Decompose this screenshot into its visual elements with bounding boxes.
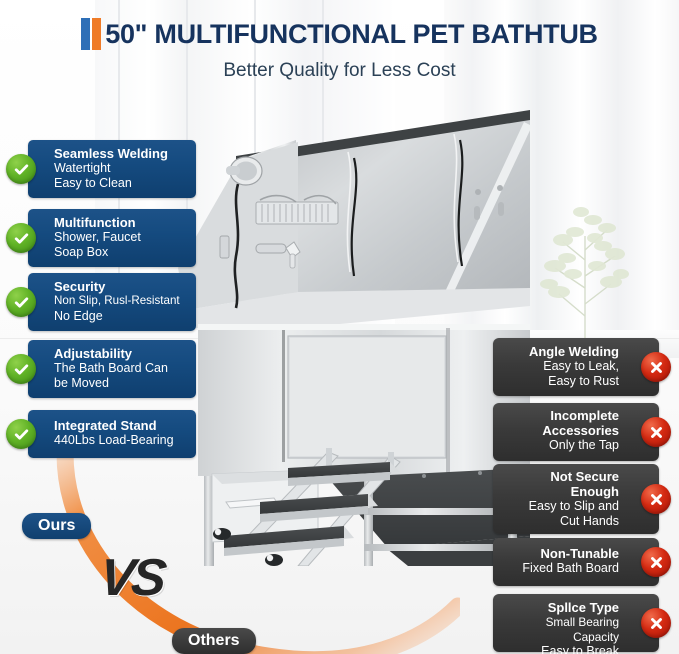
con-line: Easy to Rust (501, 374, 619, 389)
con-title: Non-Tunable (501, 546, 619, 561)
con-line: Small Bearing Capacity (501, 615, 619, 644)
con-item-non-tunable[interactable]: Non-Tunable Fixed Bath Board (493, 538, 659, 586)
pro-line: be Moved (54, 376, 188, 391)
ours-label: Ours (22, 513, 91, 539)
con-item-angle-welding[interactable]: Angle Welding Easy to Leak, Easy to Rust (493, 338, 659, 396)
con-line: Cut Hands (501, 514, 619, 529)
pro-line: Shower, Faucet (54, 230, 188, 245)
pro-line: Non Slip, Rusl-Resistant (54, 294, 188, 309)
cross-icon (641, 608, 671, 638)
pro-title: Seamless Welding (54, 146, 188, 161)
con-item-not-secure-enough[interactable]: Not Secure Enough Easy to Slip and Cut H… (493, 464, 659, 534)
check-icon (6, 287, 36, 317)
con-title: Not Secure Enough (501, 470, 619, 499)
infographic-canvas: Seamless Welding Watertight Easy to Clea… (0, 0, 679, 654)
pro-item-integrated-stand[interactable]: Integrated Stand 440Lbs Load-Bearing (28, 410, 196, 458)
cross-icon (641, 547, 671, 577)
header: 50" MULTIFUNCTIONAL PET BATHTUB (0, 18, 679, 55)
con-item-incomplete-accessories[interactable]: Incomplete Accessories Only the Tap (493, 403, 659, 461)
con-line: Easy to Leak, (501, 359, 619, 374)
check-icon (6, 154, 36, 184)
pro-line: Soap Box (54, 245, 188, 260)
con-line: Fixed Bath Board (501, 561, 619, 576)
pro-line: Easy to Clean (54, 176, 188, 191)
check-icon (6, 354, 36, 384)
page-subtitle: Better Quality for Less Cost (0, 60, 679, 82)
pro-line: Watertight (54, 161, 188, 176)
con-title: Incomplete Accessories (501, 409, 619, 438)
pro-item-security[interactable]: Security Non Slip, Rusl-Resistant No Edg… (28, 273, 196, 331)
pro-line: The Bath Board Can (54, 361, 188, 376)
page-title: 50" MULTIFUNCTIONAL PET BATHTUB (105, 18, 597, 50)
vs-label: VS (97, 548, 167, 608)
others-label: Others (172, 628, 256, 654)
pro-title: Security (54, 279, 188, 294)
con-item-spllce-type[interactable]: Spllce Type Small Bearing Capacity Easy … (493, 594, 659, 652)
pro-title: Adjustability (54, 346, 188, 361)
pro-item-seamless-welding[interactable]: Seamless Welding Watertight Easy to Clea… (28, 140, 196, 198)
cross-icon (641, 417, 671, 447)
con-line: Easy to Slip and (501, 499, 619, 514)
accent-bar-orange (92, 18, 101, 50)
pro-line: No Edge (54, 309, 188, 324)
cons-column: Angle Welding Easy to Leak, Easy to Rust… (479, 0, 679, 654)
pro-title: Integrated Stand (54, 418, 188, 433)
check-icon (6, 419, 36, 449)
pro-item-multifunction[interactable]: Multifunction Shower, Faucet Soap Box (28, 209, 196, 267)
pro-title: Multifunction (54, 215, 188, 230)
con-line: Only the Tap (501, 438, 619, 453)
con-title: Angle Welding (501, 344, 619, 359)
cross-icon (641, 352, 671, 382)
cross-icon (641, 484, 671, 514)
pro-line: 440Lbs Load-Bearing (54, 433, 188, 448)
con-line: Easy to Break (501, 644, 619, 654)
con-title: Spllce Type (501, 600, 619, 615)
check-icon (6, 223, 36, 253)
accent-bar-blue (81, 18, 90, 50)
pro-item-adjustability[interactable]: Adjustability The Bath Board Can be Move… (28, 340, 196, 398)
